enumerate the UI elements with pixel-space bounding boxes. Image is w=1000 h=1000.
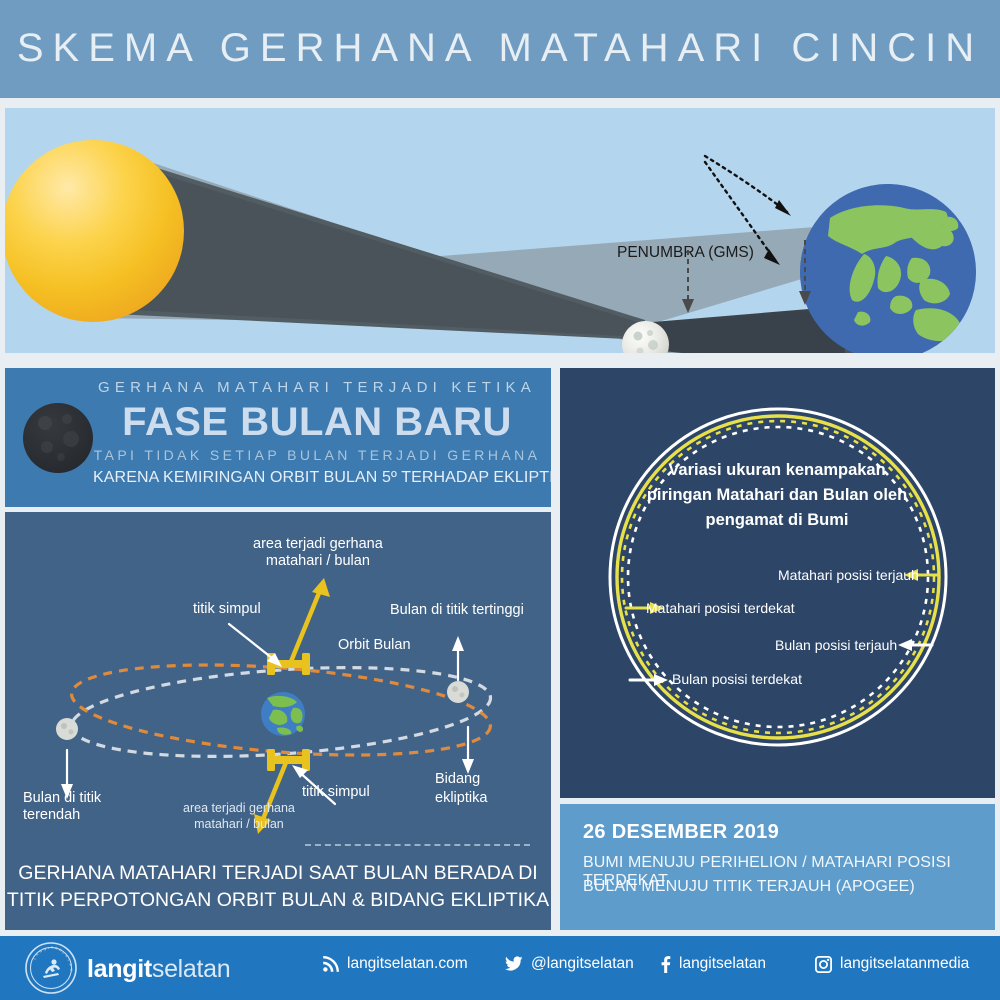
label-moon-lowest: Bulan di titik terendah (23, 790, 101, 824)
label-ecliptic-plane: Bidang ekliptika (435, 770, 487, 808)
brand-wordmark: langitselatan (87, 955, 230, 984)
moon-orbit-panel: area terjadi gerhana matahari / bulan ti… (5, 512, 551, 930)
twitter-icon (505, 956, 523, 972)
sun-sphere (5, 140, 184, 322)
svg-text:T: T (51, 946, 53, 950)
eclipse-area-top-line1: area terjadi gerhana (253, 536, 383, 553)
concentric-disc-rings (560, 368, 995, 798)
moon-lowest-line2: terendah (23, 807, 101, 824)
svg-text:A: A (68, 963, 73, 968)
ring-panel-title: Variasi ukuran kenampakan piringan Matah… (612, 458, 942, 533)
svg-text:L: L (33, 957, 37, 961)
langitselatan-seal-logo: L A N G I T S E L A T A N (25, 942, 77, 994)
eclipse-area-bottom-line2: matahari / bulan (183, 816, 295, 832)
instagram-icon (815, 956, 832, 973)
brand-light: selatan (152, 955, 231, 983)
phase-line-3: TAPI TIDAK SETIAP BULAN TERJADI GERHANA (93, 447, 541, 463)
infographic-page: SKEMA GERHANA MATAHARI CINCIN (0, 0, 1000, 1000)
twitter-label: @langitselatan (531, 955, 634, 973)
orbit-panel-caption: GERHANA MATAHARI TERJADI SAAT BULAN BERA… (5, 860, 551, 914)
label-moon-highest: Bulan di titik tertinggi (390, 602, 524, 619)
label-sun-nearest: Matahari posisi terdekat (646, 600, 795, 616)
label-eclipse-area-top: area terjadi gerhana matahari / bulan (253, 536, 383, 570)
orbit-caption-line1: GERHANA MATAHARI TERJADI SAAT BULAN BERA… (5, 860, 551, 887)
phase-line-1: GERHANA MATAHARI TERJADI KETIKA (93, 379, 541, 396)
ring-title-line2: piringan Matahari dan Bulan oleh (612, 483, 942, 508)
rss-icon (322, 956, 339, 973)
moon-lowest-line1: Bulan di titik (23, 790, 101, 807)
label-node-bottom: titik simpul (302, 784, 370, 801)
new-moon-icon (23, 403, 93, 473)
footer-facebook-link[interactable]: langitselatan (660, 955, 766, 973)
brand-bold: langit (87, 955, 152, 983)
header-banner: SKEMA GERHANA MATAHARI CINCIN (0, 0, 1000, 98)
instagram-label: langitselatanmedia (840, 955, 969, 973)
event-date-panel: 26 DESEMBER 2019 BUMI MENUJU PERIHELION … (560, 804, 995, 930)
facebook-icon (660, 956, 671, 973)
label-moon-nearest: Bulan posisi terdekat (672, 671, 802, 687)
eclipse-geometry-diagram: PENUMBRA (GMS) UMBRA (GMT) ANTUMBRA (GMC… (5, 108, 995, 353)
ecliptic-line1: Bidang (435, 770, 487, 789)
apparent-size-panel: Variasi ukuran kenampakan piringan Matah… (560, 368, 995, 798)
earth-globe (800, 184, 976, 353)
footer-website-link[interactable]: langitselatan.com (322, 955, 468, 973)
phase-headline: FASE BULAN BARU (93, 399, 541, 445)
moon-sphere (622, 321, 669, 353)
label-eclipse-area-bottom: area terjadi gerhana matahari / bulan (183, 800, 295, 832)
new-moon-phase-panel: GERHANA MATAHARI TERJADI KETIKA FASE BUL… (5, 368, 551, 507)
dashed-divider (305, 844, 530, 846)
event-date: 26 DESEMBER 2019 (583, 821, 779, 844)
footer-twitter-link[interactable]: @langitselatan (505, 955, 634, 973)
label-moon-orbit: Orbit Bulan (338, 637, 411, 654)
footer-instagram-link[interactable]: langitselatanmedia (815, 955, 969, 973)
orbit-caption-line2: TITIK PERPOTONGAN ORBIT BULAN & BIDANG E… (5, 887, 551, 914)
label-moon-farthest: Bulan posisi terjauh (775, 637, 897, 653)
phase-line-4: KARENA KEMIRINGAN ORBIT BULAN 5º TERHADA… (93, 469, 541, 487)
event-note-line2: BULAN MENUJU TITIK TERJAUH (APOGEE) (583, 878, 915, 896)
eclipse-area-top-line2: matahari / bulan (253, 553, 383, 570)
ring-title-line3: pengamat di Bumi (612, 508, 942, 533)
label-node-top: titik simpul (193, 601, 261, 618)
label-penumbra: PENUMBRA (GMS) (617, 244, 754, 262)
page-title: SKEMA GERHANA MATAHARI CINCIN (0, 26, 1000, 71)
eclipse-area-bottom-line1: area terjadi gerhana (183, 800, 295, 816)
svg-text:I: I (48, 946, 50, 950)
ecliptic-line2: ekliptika (435, 789, 487, 808)
website-label: langitselatan.com (347, 955, 468, 973)
facebook-label: langitselatan (679, 955, 766, 973)
label-sun-farthest: Matahari posisi terjauh (778, 567, 919, 583)
ring-title-line1: Variasi ukuran kenampakan (612, 458, 942, 483)
